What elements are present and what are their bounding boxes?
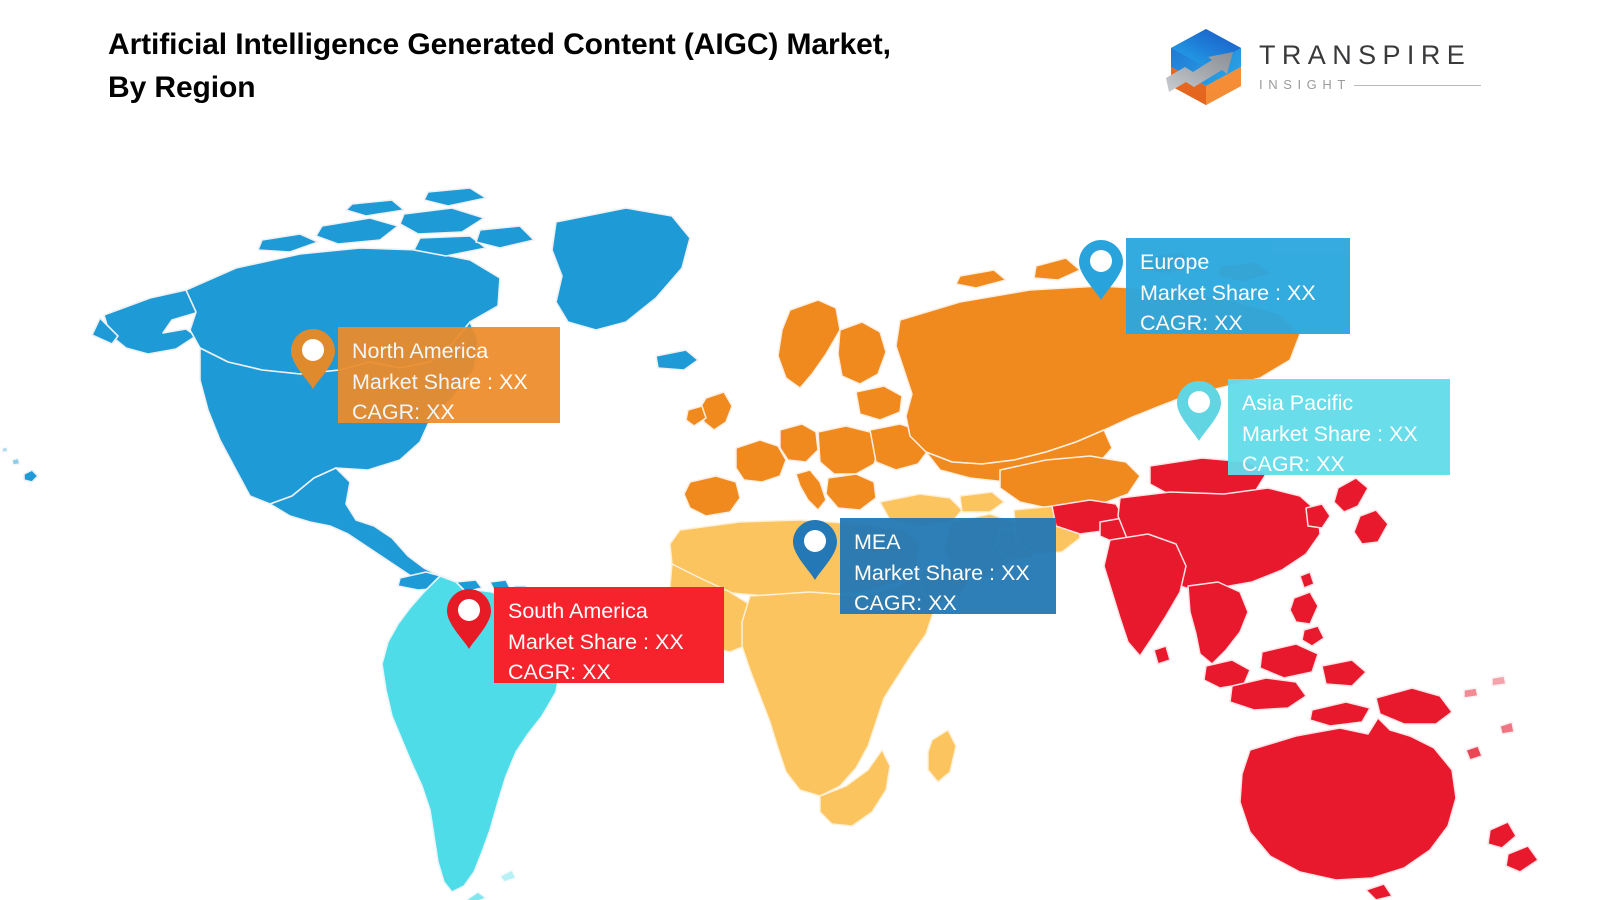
map-pin-south-america[interactable] [446, 588, 492, 650]
callout-cagr: CAGR: XX [1140, 308, 1336, 339]
callout-cagr: CAGR: XX [508, 657, 710, 688]
callout-market-share: Market Share : XX [352, 367, 546, 398]
page-title: Artificial Intelligence Generated Conten… [108, 24, 1088, 109]
world-map-svg [0, 130, 1600, 900]
callout-region-label: Asia Pacific [1242, 388, 1436, 419]
world-map [0, 130, 1600, 900]
callout-region-label: North America [352, 336, 546, 367]
brand-logo: TRANSPIRE INSIGHT [1163, 24, 1463, 108]
callout-box-europe[interactable]: Europe Market Share : XX CAGR: XX [1126, 238, 1350, 334]
transpire-cube-arrow-icon [1163, 26, 1249, 108]
callout-cagr: CAGR: XX [854, 588, 1042, 619]
callout-box-north-america[interactable]: North America Market Share : XX CAGR: XX [338, 327, 560, 423]
map-pin-asia-pacific[interactable] [1176, 380, 1222, 442]
callout-region-label: Europe [1140, 247, 1336, 278]
callout-region-label: MEA [854, 527, 1042, 558]
logo-wordmark: TRANSPIRE INSIGHT [1259, 42, 1481, 91]
callout-box-asia-pacific[interactable]: Asia Pacific Market Share : XX CAGR: XX [1228, 379, 1450, 475]
callout-market-share: Market Share : XX [1140, 278, 1336, 309]
map-pin-north-america[interactable] [290, 328, 336, 390]
callout-market-share: Market Share : XX [508, 627, 710, 658]
callout-cagr: CAGR: XX [352, 397, 546, 428]
callout-region-label: South America [508, 596, 710, 627]
callout-box-mea[interactable]: MEA Market Share : XX CAGR: XX [840, 518, 1056, 614]
logo-tagline-row: INSIGHT [1259, 78, 1481, 91]
region-asia-pacific [1052, 458, 1538, 900]
map-pin-europe[interactable] [1078, 239, 1124, 301]
callout-market-share: Market Share : XX [854, 558, 1042, 589]
infographic-page: Artificial Intelligence Generated Conten… [0, 0, 1600, 900]
logo-name: TRANSPIRE [1259, 42, 1481, 69]
callout-cagr: CAGR: XX [1242, 449, 1436, 480]
map-pin-mea[interactable] [792, 519, 838, 581]
callout-box-south-america[interactable]: South America Market Share : XX CAGR: XX [494, 587, 724, 683]
logo-rule-divider [1354, 85, 1481, 86]
logo-tagline: INSIGHT [1259, 78, 1351, 91]
callout-market-share: Market Share : XX [1242, 419, 1436, 450]
